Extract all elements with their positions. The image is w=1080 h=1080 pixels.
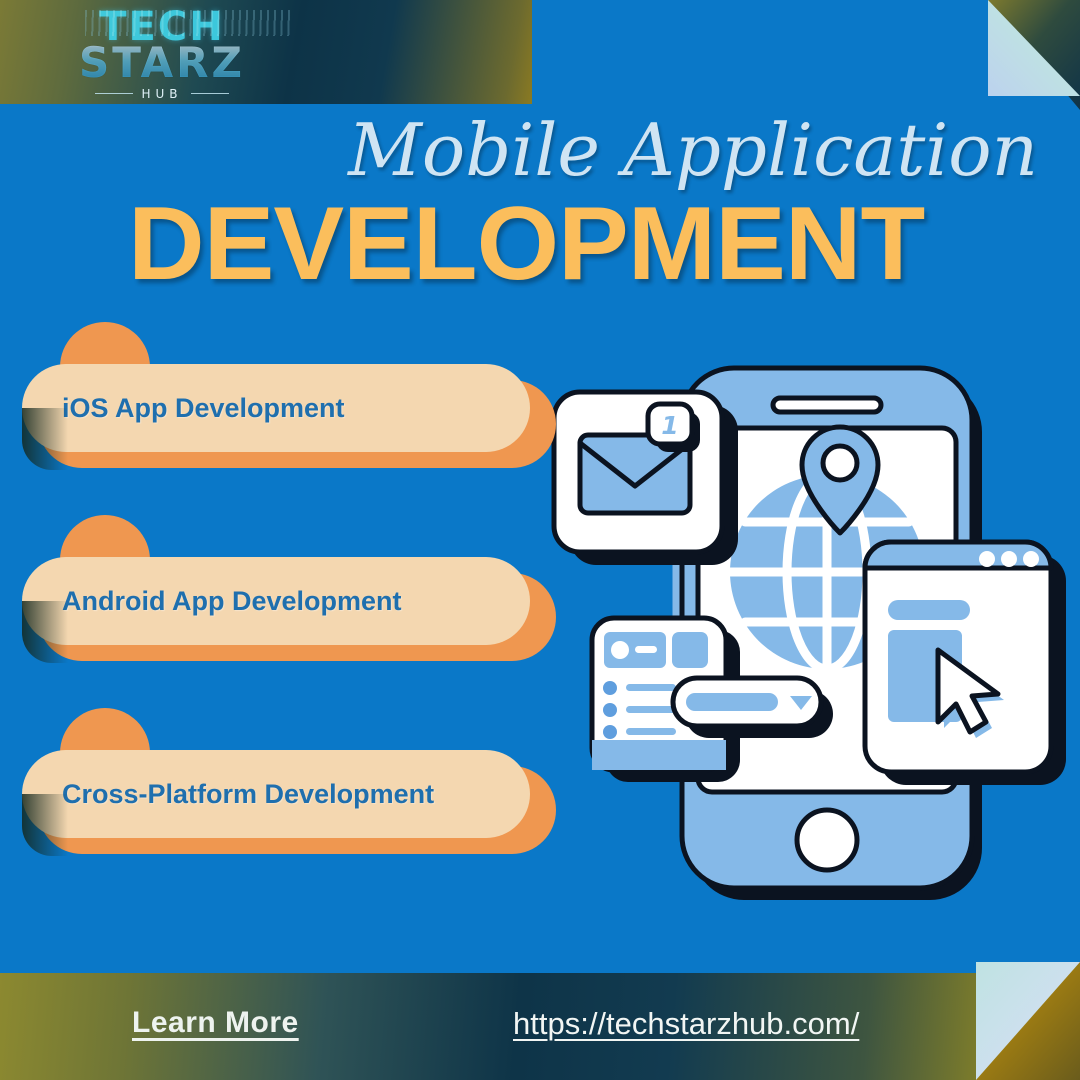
browser-window[interactable] [865, 542, 1066, 785]
pill-corner-shade [22, 601, 68, 663]
bottom-right-corner-decoration [948, 948, 1080, 1080]
email-badge-count: 1 [661, 411, 678, 440]
feature-pill-cross-platform[interactable]: Cross-Platform Development [22, 750, 562, 860]
page-title: DEVELOPMENT [128, 192, 924, 296]
email-badge: 1 [648, 404, 700, 452]
pill-corner-shade [22, 408, 68, 470]
feature-label: Cross-Platform Development [62, 779, 434, 810]
website-url-link[interactable]: https://techstarzhub.com/ [513, 1006, 859, 1042]
contact-card-footer [592, 740, 726, 770]
email-card[interactable]: 1 [554, 392, 738, 565]
pill-body[interactable]: Android App Development [22, 557, 530, 645]
phone-speaker-icon [773, 398, 881, 412]
feature-label: Android App Development [62, 586, 402, 617]
top-right-corner-decoration [958, 0, 1080, 120]
learn-more-link[interactable]: Learn More [132, 1006, 299, 1040]
logo-text-hub: HUB [141, 87, 182, 101]
phone-home-button[interactable] [797, 810, 857, 870]
logo-text-tech: TECH [99, 8, 224, 46]
logo-hub-row: HUB [95, 87, 228, 101]
contact-card-rows [603, 681, 676, 739]
brand-logo[interactable]: TECH STARZ HUB [72, 8, 252, 100]
search-bar[interactable] [673, 678, 833, 738]
logo-rule-left [95, 93, 133, 94]
logo-rule-right [191, 93, 229, 94]
pill-body[interactable]: iOS App Development [22, 364, 530, 452]
feature-pill-ios[interactable]: iOS App Development [22, 364, 562, 474]
poster-canvas: TECH STARZ HUB [0, 0, 1080, 1080]
browser-heading-bar [888, 600, 970, 620]
search-input-placeholder [686, 693, 778, 711]
pill-body[interactable]: Cross-Platform Development [22, 750, 530, 838]
feature-label: iOS App Development [62, 393, 345, 424]
feature-pill-android[interactable]: Android App Development [22, 557, 562, 667]
illustration-mobile-app: 1 [540, 350, 1080, 910]
browser-titlebar [865, 542, 1051, 568]
contact-card-header [604, 632, 708, 668]
browser-window-dots[interactable] [979, 551, 1039, 567]
page-subtitle: Mobile Application [348, 108, 1038, 192]
pill-corner-shade [22, 794, 68, 856]
